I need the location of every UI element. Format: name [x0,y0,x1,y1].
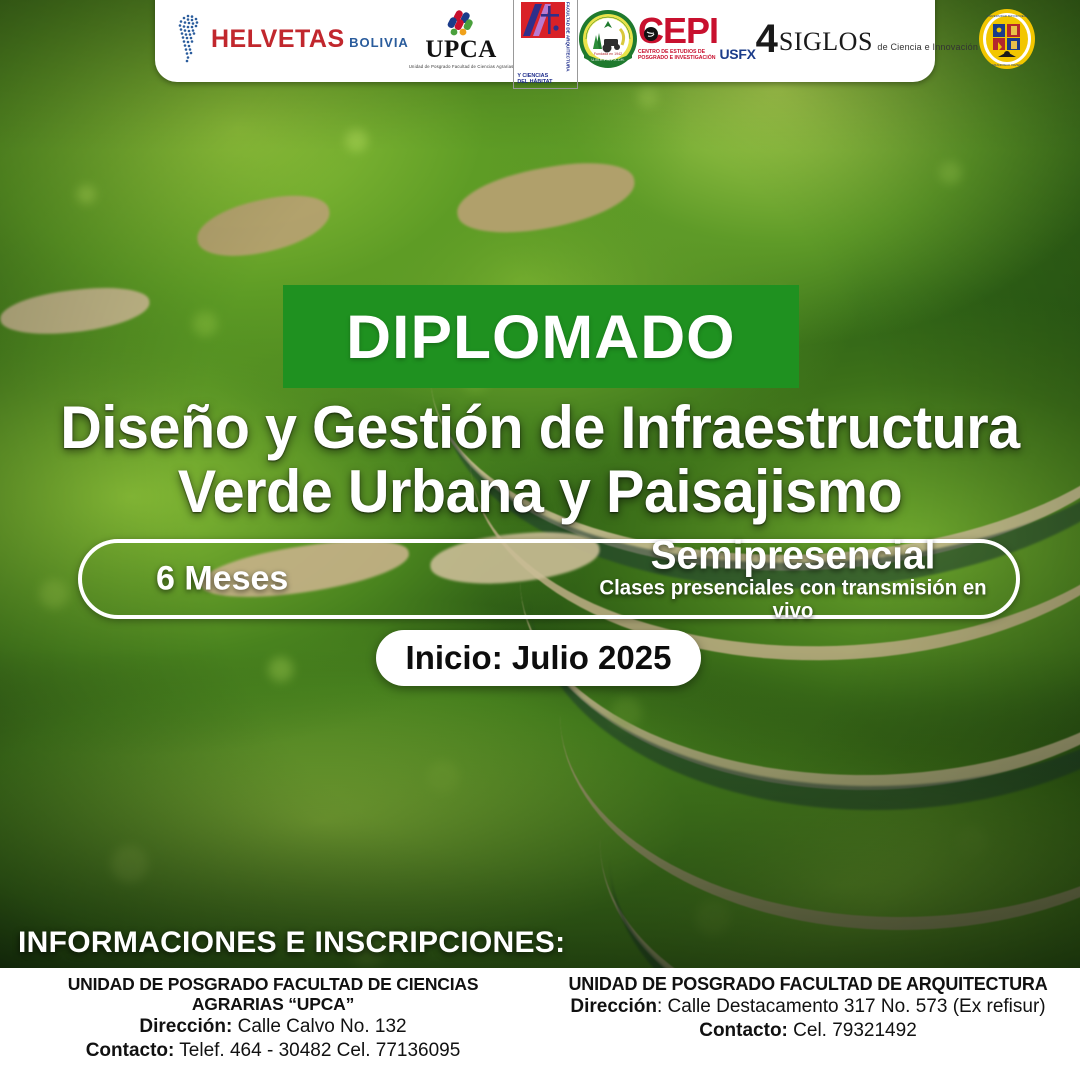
info-heading: INFORMACIONES E INSCRIPCIONES: [18,926,565,960]
helvetas-name: HELVETAS [211,25,345,53]
diplomado-label: DIPLOMADO [346,302,735,372]
cepi-sub: CENTRO DE ESTUDIOS DEPOSGRADO E INVESTIG… [638,50,716,62]
ciencias-agrarias-seal-icon: Fundada en 1942 U.M.R.P.S.F.X.CH. [578,9,638,69]
svg-text:Fundada en 1942: Fundada en 1942 [594,52,622,56]
logo-4siglos: 4 SIGLOS de Ciencia e Innovación [756,23,978,55]
poster: HELVETAS BOLIVIA U [0,0,1080,1080]
logo-helvetas: HELVETAS BOLIVIA [173,12,409,66]
umrpsfxch-logo-icon [521,2,565,38]
helvetas-map-icon [173,12,207,66]
svg-text:UNIVERSIDAD MAYOR REAL: UNIVERSIDAD MAYOR REAL [987,14,1028,18]
usfx-seal-icon: UNIVERSIDAD MAYOR REAL FRANCISCO XAVIER [978,8,1036,70]
upca-sub: Unidad de Posgrado Facultad de Ciencias … [409,64,514,69]
title-line-1: Diseño y Gestión de Infraestructura [60,394,1019,461]
duration-label: 6 Meses [156,560,288,599]
start-date-label: Inicio: Julio 2025 [406,639,672,677]
contact-label: Contacto: [86,1040,175,1061]
address-label: Dirección: [139,1016,232,1037]
contact-label: Contacto: [699,1020,788,1041]
address-value: : Calle Destacamento 317 No. 573 (Ex ref… [657,996,1046,1017]
contact-phone: Contacto: Cel. 79321492 [546,1019,1070,1043]
logo-upca: UPCA Unidad de Posgrado Facultad de Cien… [409,10,514,69]
contact-column-upca: UNIDAD DE POSGRADO FACULTAD DE CIENCIAS … [0,968,540,1080]
4siglos-name: SIGLOS [779,27,873,56]
logo-usfx-seal: UNIVERSIDAD MAYOR REAL FRANCISCO XAVIER [978,8,1036,70]
logo-bar: HELVETAS BOLIVIA U [155,0,935,82]
contact-address: Dirección: Calle Calvo No. 132 [12,1015,534,1039]
address-value: Calle Calvo No. 132 [232,1016,406,1037]
svg-text:U.M.R.P.S.F.X.CH.: U.M.R.P.S.F.X.CH. [591,57,624,62]
contact-title-line-1: UNIDAD DE POSGRADO FACULTAD DE CIENCIAS [68,974,479,994]
modality-note: Clases presenciales con transmisión en v… [588,576,997,622]
logo-cepi: CEPI CENTRO DE ESTUDIOS DEPOSGRADO E INV… [638,16,756,63]
logo-umrpsfxch: UMRPSFXCH FACULTAD DE ARQUITECTURA Y CIE… [513,0,578,89]
title-line-2: Verde Urbana y Paisajismo [22,460,1059,524]
contact-column-arquitectura: UNIDAD DE POSGRADO FACULTAD DE ARQUITECT… [540,968,1080,1080]
contact-address: Dirección: Calle Destacamento 317 No. 57… [546,995,1070,1019]
contact-title: UNIDAD DE POSGRADO FACULTAD DE ARQUITECT… [546,974,1070,995]
4siglos-sub: de Ciencia e Innovación [877,42,978,52]
umrpsfxch-bottom-text: Y CIENCIASDEL HÁBITAT [517,74,552,86]
contact-panel: UNIDAD DE POSGRADO FACULTAD DE CIENCIAS … [0,968,1080,1080]
modality-label: Semipresencial [588,535,997,575]
contact-title-line-1: UNIDAD DE POSGRADO FACULTAD DE ARQUITECT… [568,974,1047,994]
contact-value: Cel. 79321492 [788,1020,917,1041]
address-label: Dirección [570,996,657,1017]
diplomado-banner: DIPLOMADO [283,285,799,388]
page-title: Diseño y Gestión de Infraestructura Verd… [22,396,1059,523]
start-date-badge: Inicio: Julio 2025 [376,630,701,686]
contact-phone: Contacto: Telef. 464 - 30482 Cel. 771360… [12,1039,534,1063]
program-info-pill: 6 Meses Semipresencial Clases presencial… [78,539,1020,619]
4siglos-numeral: 4 [756,23,778,55]
logo-ciencias-agrarias: Fundada en 1942 U.M.R.P.S.F.X.CH. [578,9,638,69]
contact-title: UNIDAD DE POSGRADO FACULTAD DE CIENCIAS … [12,974,534,1015]
upca-name: UPCA [425,37,496,62]
contact-value: Telef. 464 - 30482 Cel. 77136095 [174,1040,460,1061]
umrpsfxch-side-text: FACULTAD DE ARQUITECTURA [565,2,571,72]
svg-text:FRANCISCO XAVIER: FRANCISCO XAVIER [992,63,1022,67]
cepi-name: CEPI [638,16,718,47]
contact-title-line-2: AGRARIAS “UPCA” [192,994,354,1014]
cepi-usfx-badge: USFX [720,46,756,62]
helvetas-sub: BOLIVIA [349,35,409,50]
upca-mark-icon [441,10,481,36]
